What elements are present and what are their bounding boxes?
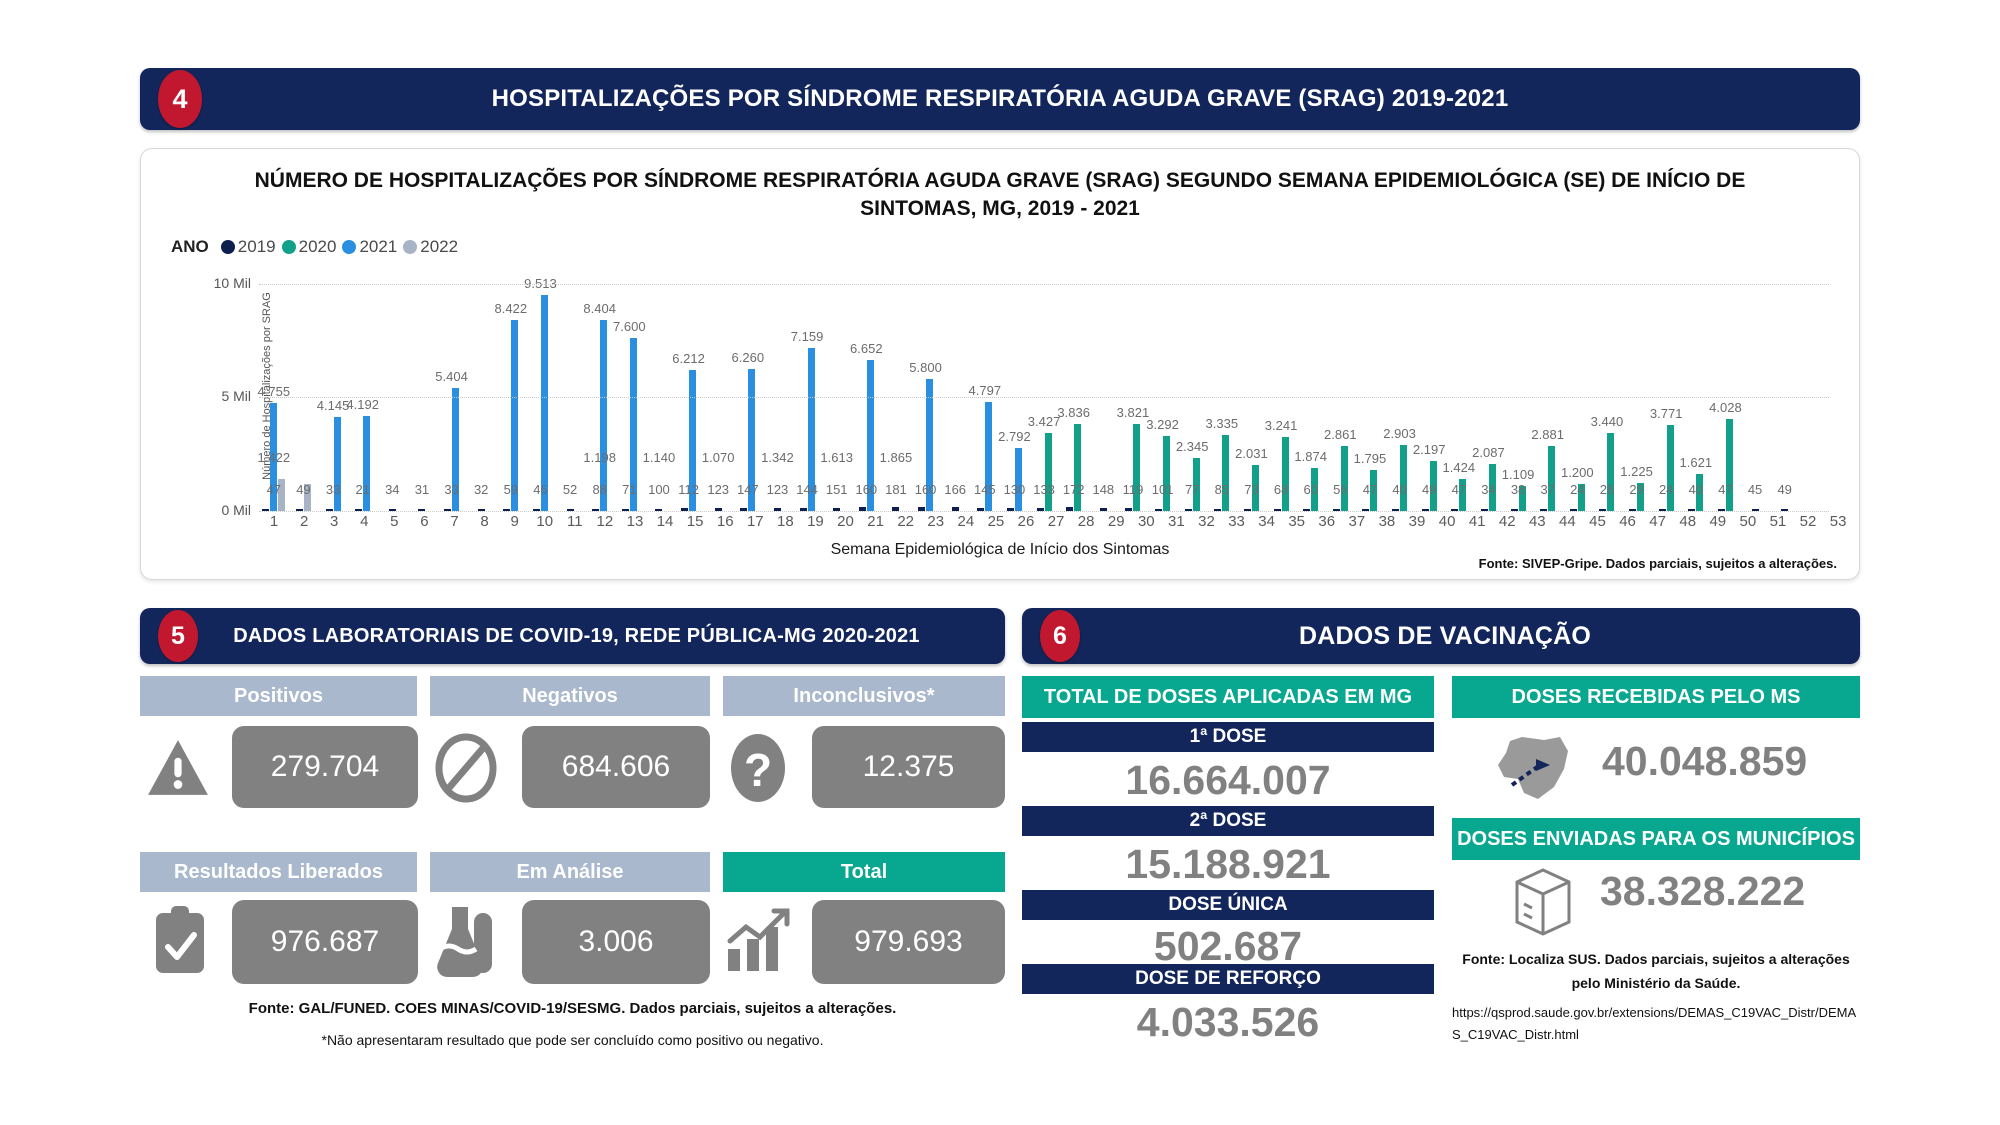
bar-value-label-2019: 34 (1481, 482, 1495, 497)
bar-group[interactable]: 2.792130 (1000, 261, 1030, 511)
bar-group[interactable]: 3.44028 (1592, 261, 1622, 511)
bar-group[interactable]: 2.19749 (1414, 261, 1444, 511)
bar-value-label-2019: 59 (504, 482, 518, 497)
dose-2-value: 15.188.921 (1022, 840, 1434, 888)
section-4-header: 4 HOSPITALIZAÇÕES POR SÍNDROME RESPIRATÓ… (140, 68, 1860, 130)
section-5-title: DADOS LABORATORIAIS DE COVID-19, REDE PÚ… (198, 625, 1005, 648)
lab-label-em-analise: Em Análise (430, 852, 710, 892)
bar-value-label-2019: 145 (974, 482, 996, 497)
bar-group[interactable]: 3.427133 (1029, 261, 1059, 511)
bar-value-label: 1.865 (880, 450, 913, 465)
doses-sent-value: 38.328.222 (1600, 868, 1805, 915)
package-box-icon (1506, 862, 1580, 942)
bar-group[interactable] (1800, 261, 1830, 511)
x-tick-label: 9 (500, 513, 530, 530)
bar-group[interactable]: 1.87460 (1296, 261, 1326, 511)
bar-value-label-2019: 40 (1392, 482, 1406, 497)
x-tick-label: 34 (1252, 513, 1282, 530)
bar-value-label-2019: 45 (1748, 482, 1762, 497)
bar-value-label-2019: 100 (648, 482, 670, 497)
bar-value-label: 3.836 (1057, 405, 1090, 420)
bar-group[interactable]: 32 (466, 261, 496, 511)
test-tube-icon (428, 900, 504, 982)
bar-value-label-2019: 31 (415, 482, 429, 497)
bar-value-label-2019: 68 (1274, 482, 1288, 497)
x-tick-label: 42 (1492, 513, 1522, 530)
bar-value-label-2019: 46 (533, 482, 547, 497)
bar-value-label-2019: 147 (737, 482, 759, 497)
bar-value-label-2019: 73 (1244, 482, 1258, 497)
section-6-title: DADOS DE VACINAÇÃO (1080, 622, 1860, 651)
x-tick-label: 15 (680, 513, 710, 530)
bar-value-label-2019: 24 (1659, 482, 1673, 497)
dose-reforco-label: DOSE DE REFORÇO (1022, 964, 1434, 994)
svg-text:?: ? (744, 744, 772, 796)
bar-group[interactable]: 9.51346 (526, 261, 556, 511)
lab-label-inconclusivos: Inconclusivos* (723, 676, 1005, 716)
bar-2021[interactable] (1015, 448, 1022, 511)
x-tick-label: 7 (439, 513, 469, 530)
x-tick-label: 20 (830, 513, 860, 530)
bar-group[interactable]: 1.79547 (1355, 261, 1385, 511)
x-tick-label: 51 (1763, 513, 1793, 530)
chart-legend: ANO 2019 2020 2021 2022 (171, 237, 458, 257)
bar-value-label-2019: 172 (1063, 482, 1085, 497)
legend-label-2021: 2021 (359, 237, 397, 257)
bar-value-label-2019: 24 (1570, 482, 1584, 497)
bar-value-label-2019: 47 (1718, 482, 1732, 497)
bar-value-label: 1.795 (1354, 451, 1387, 466)
bar-value-label: 2.345 (1176, 439, 1209, 454)
bar-value-label-2019: 160 (915, 482, 937, 497)
chart-title: NÚMERO DE HOSPITALIZAÇÕES POR SÍNDROME R… (201, 167, 1799, 223)
bar-group[interactable]: 4.797145 (970, 261, 1000, 511)
x-tick-label: 6 (409, 513, 439, 530)
bar-value-label: 5.404 (435, 369, 468, 384)
x-tick-label: 39 (1402, 513, 1432, 530)
bar-group[interactable]: 1.10938 (1503, 261, 1533, 511)
bar-value-label-2019: 37 (1540, 482, 1554, 497)
bar-value-label-2019: 181 (885, 482, 907, 497)
x-tick-label: 36 (1312, 513, 1342, 530)
bar-2021[interactable] (541, 295, 548, 511)
bar-value-label: 1.198 (583, 450, 616, 465)
x-tick-label: 37 (1342, 513, 1372, 530)
bar-value-label: 6.212 (672, 351, 705, 366)
x-tick-label: 14 (650, 513, 680, 530)
legend-item-2021[interactable]: 2021 (342, 237, 397, 257)
bar-group[interactable]: 2.08734 (1474, 261, 1504, 511)
lab-label-total: Total (723, 852, 1005, 892)
x-tick-label: 46 (1613, 513, 1643, 530)
x-tick-label: 2 (289, 513, 319, 530)
bar-value-label: 3.335 (1206, 416, 1239, 431)
vaccination-total-header: TOTAL DE DOSES APLICADAS EM MG (1022, 676, 1434, 718)
bar-value-label: 1.874 (1294, 449, 1327, 464)
x-tick-label: 47 (1643, 513, 1673, 530)
x-tick-label: 32 (1191, 513, 1221, 530)
x-tick-label: 49 (1703, 513, 1733, 530)
bar-group[interactable]: 49 (289, 261, 319, 511)
legend-title: ANO (171, 237, 209, 257)
x-tick-label: 12 (590, 513, 620, 530)
bar-group[interactable]: 1.613151 (822, 261, 852, 511)
bar-group[interactable]: 148 (1089, 261, 1119, 511)
bar-value-label: 1.342 (761, 450, 794, 465)
bar-2020[interactable] (1400, 445, 1407, 511)
bar-group[interactable]: 1.62140 (1681, 261, 1711, 511)
bar-2020[interactable] (1163, 436, 1170, 511)
dose-1-label: 1ª DOSE (1022, 722, 1434, 752)
bar-value-label-2019: 130 (1004, 482, 1026, 497)
x-tick-label: 29 (1101, 513, 1131, 530)
x-tick-label: 40 (1432, 513, 1462, 530)
lab-label-positivos: Positivos (140, 676, 417, 716)
x-tick-label: 28 (1071, 513, 1101, 530)
lab-value-em-analise: 3.006 (522, 900, 710, 984)
bar-group[interactable]: 2.03173 (1237, 261, 1267, 511)
bar-2020[interactable] (1548, 446, 1555, 511)
bar-value-label-2019: 71 (622, 482, 636, 497)
bar-2020[interactable] (1045, 433, 1052, 511)
x-tick-label: 13 (620, 513, 650, 530)
x-tick-label: 30 (1131, 513, 1161, 530)
x-tick-label: 43 (1522, 513, 1552, 530)
bar-value-label-2019: 29 (1629, 482, 1643, 497)
x-tick-label: 50 (1733, 513, 1763, 530)
legend-swatch-2020 (282, 240, 296, 254)
legend-swatch-2019 (221, 240, 235, 254)
bar-group[interactable]: 3.821119 (1118, 261, 1148, 511)
dose-1-value: 16.664.007 (1022, 756, 1434, 804)
x-tick-label: 10 (530, 513, 560, 530)
bar-value-label: 6.652 (850, 341, 883, 356)
bar-value-label-2019: 34 (385, 482, 399, 497)
bar-value-label: 1.200 (1561, 465, 1594, 480)
bar-group[interactable]: 2.86156 (1326, 261, 1356, 511)
x-tick-label: 17 (740, 513, 770, 530)
bar-group[interactable]: 49 (1770, 261, 1800, 511)
bar-value-label: 2.792 (998, 429, 1031, 444)
minas-gerais-map-icon (1490, 734, 1580, 804)
bar-value-label: 3.241 (1265, 418, 1298, 433)
bar-group[interactable]: 2.34577 (1177, 261, 1207, 511)
bar-value-label-2019: 123 (707, 482, 729, 497)
bar-value-label-2019: 21 (355, 482, 369, 497)
bar-value-label-2019: 32 (474, 482, 488, 497)
section-6-badge: 6 (1040, 610, 1080, 662)
bar-chart-icon (718, 900, 798, 982)
legend-label-2019: 2019 (238, 237, 276, 257)
bar-group[interactable]: 8.42259 (496, 261, 526, 511)
bar-value-label: 1.070 (702, 450, 735, 465)
legend-swatch-2021 (342, 240, 356, 254)
bar-value-label: 3.440 (1591, 414, 1624, 429)
prohibited-icon (430, 728, 502, 808)
bar-value-label: 6.260 (732, 350, 765, 365)
bar-value-label: 4.145 (317, 398, 350, 413)
lab-label-negativos: Negativos (430, 676, 710, 716)
bar-group[interactable]: 4.19221 (348, 261, 378, 511)
bar-value-label-2019: 77 (1185, 482, 1199, 497)
bar-value-label: 8.404 (583, 301, 616, 316)
bar-group[interactable]: 2.88137 (1533, 261, 1563, 511)
dose-reforco-value: 4.033.526 (1022, 998, 1434, 1046)
bar-value-label: 1.613 (820, 450, 853, 465)
dose-unica-label: DOSE ÚNICA (1022, 890, 1434, 920)
bar-group[interactable]: 8.4041.19888 (585, 261, 615, 511)
bar-value-label: 3.821 (1117, 405, 1150, 420)
lab-value-total: 979.693 (812, 900, 1005, 984)
bar-value-label-2019: 47 (1452, 482, 1466, 497)
lab-value-negativos: 684.606 (522, 726, 710, 808)
bar-group[interactable]: 7.159144 (792, 261, 822, 511)
legend-label-2022: 2022 (420, 237, 458, 257)
legend-label-2020: 2020 (299, 237, 337, 257)
bar-group[interactable]: 1.22529 (1622, 261, 1652, 511)
bar-value-label-2019: 85 (1215, 482, 1229, 497)
doses-sent-header: DOSES ENVIADAS PARA OS MUNICÍPIOS (1452, 818, 1860, 860)
x-tick-label: 48 (1673, 513, 1703, 530)
bar-group[interactable]: 3.292101 (1148, 261, 1178, 511)
vaccination-source-url[interactable]: https://qsprod.saude.gov.br/extensions/D… (1452, 1002, 1864, 1046)
x-tick-label: 19 (800, 513, 830, 530)
bar-group[interactable]: 4.14533 (318, 261, 348, 511)
bar-value-label-2019: 160 (855, 482, 877, 497)
x-tick-label: 8 (470, 513, 500, 530)
x-tick-label: 26 (1011, 513, 1041, 530)
section-5-header: 5 DADOS LABORATORIAIS DE COVID-19, REDE … (140, 608, 1005, 664)
section-6-header: 6 DADOS DE VACINAÇÃO (1022, 608, 1860, 664)
bar-value-label-2019: 47 (267, 482, 281, 497)
legend-item-2020[interactable]: 2020 (282, 237, 337, 257)
x-tick-label: 38 (1372, 513, 1402, 530)
x-tick-label: 35 (1282, 513, 1312, 530)
bar-value-label-2019: 49 (1422, 482, 1436, 497)
doses-received-value: 40.048.859 (1602, 738, 1807, 785)
x-tick-label: 33 (1222, 513, 1252, 530)
bar-value-label: 3.292 (1146, 417, 1179, 432)
x-tick-label: 22 (891, 513, 921, 530)
bar-group[interactable]: 4.7551.42247 (259, 261, 289, 511)
y-tick-label: 5 Mil (193, 388, 251, 404)
bar-2020[interactable] (1667, 425, 1674, 511)
bar-value-label-2019: 148 (1092, 482, 1114, 497)
bar-group[interactable]: 4.02847 (1711, 261, 1741, 511)
lab-value-inconclusivos: 12.375 (812, 726, 1005, 808)
bar-2020[interactable] (1607, 433, 1614, 511)
x-tick-label: 21 (861, 513, 891, 530)
srag-chart-card: NÚMERO DE HOSPITALIZAÇÕES POR SÍNDROME R… (140, 148, 1860, 580)
bar-value-label: 2.881 (1531, 427, 1564, 442)
section-4-title: HOSPITALIZAÇÕES POR SÍNDROME RESPIRATÓRI… (202, 85, 1860, 113)
bar-2020[interactable] (1133, 424, 1140, 511)
grid-line (259, 284, 1829, 285)
bar-value-label-2019: 101 (1152, 482, 1174, 497)
bar-group[interactable]: 31 (407, 261, 437, 511)
bar-value-label-2019: 60 (1303, 482, 1317, 497)
bar-value-label-2019: 112 (678, 482, 699, 497)
bar-value-label: 8.422 (495, 301, 528, 316)
bar-value-label-2019: 88 (592, 482, 606, 497)
bar-value-label: 3.771 (1650, 406, 1683, 421)
bar-value-label-2019: 33 (326, 482, 340, 497)
x-tick-label: 52 (1793, 513, 1823, 530)
bar-value-label-2019: 166 (944, 482, 966, 497)
bar-group[interactable]: 1.140100 (644, 261, 674, 511)
bar-value-label-2019: 47 (1363, 482, 1377, 497)
lab-value-positivos: 279.704 (232, 726, 418, 808)
warning-icon (142, 728, 214, 808)
bar-group[interactable]: 7.60071 (615, 261, 645, 511)
bar-group[interactable]: 6.652160 (852, 261, 882, 511)
x-tick-label: 25 (981, 513, 1011, 530)
bar-value-label: 2.031 (1235, 446, 1268, 461)
bar-value-label: 4.797 (969, 383, 1002, 398)
bar-value-label: 7.159 (791, 329, 824, 344)
bar-value-label: 1.621 (1680, 455, 1713, 470)
bar-value-label: 4.192 (346, 397, 379, 412)
x-tick-label: 31 (1161, 513, 1191, 530)
x-tick-label: 1 (259, 513, 289, 530)
lab-label-resultados-liberados: Resultados Liberados (140, 852, 417, 892)
x-tick-label: 27 (1041, 513, 1071, 530)
vaccination-source-line1: Fonte: Localiza SUS. Dados parciais, suj… (1462, 951, 1849, 967)
bar-value-label-2019: 133 (1033, 482, 1055, 497)
bar-value-label: 2.861 (1324, 427, 1357, 442)
x-tick-label: 11 (560, 513, 590, 530)
bar-value-label-2019: 40 (1689, 482, 1703, 497)
bar-value-label: 1.225 (1620, 464, 1653, 479)
dose-2-label: 2ª DOSE (1022, 806, 1434, 836)
bar-value-label: 2.197 (1413, 442, 1446, 457)
bar-value-label: 1.424 (1443, 460, 1476, 475)
dose-unica-value: 502.687 (1022, 922, 1434, 970)
bar-group[interactable]: 3.77124 (1651, 261, 1681, 511)
question-mark-icon: ? (722, 728, 794, 808)
section-4-badge: 4 (158, 70, 202, 128)
x-tick-label: 44 (1552, 513, 1582, 530)
x-tick-label: 45 (1582, 513, 1612, 530)
vaccination-source-note: Fonte: Localiza SUS. Dados parciais, suj… (1452, 948, 1860, 996)
x-tick-label: 3 (319, 513, 349, 530)
bar-value-label: 2.903 (1383, 426, 1416, 441)
grid-line (259, 397, 1829, 398)
bar-value-label: 7.600 (613, 319, 646, 334)
bar-group[interactable]: 3.33585 (1207, 261, 1237, 511)
x-tick-label: 23 (921, 513, 951, 530)
bar-value-label-2019: 28 (1600, 482, 1614, 497)
bar-group[interactable]: 3.836172 (1059, 261, 1089, 511)
bar-value-label-2019: 151 (826, 482, 848, 497)
x-tick-label: 4 (349, 513, 379, 530)
bar-value-label-2019: 144 (796, 482, 818, 497)
legend-swatch-2022 (403, 240, 417, 254)
bar-value-label: 2.087 (1472, 445, 1505, 460)
bar-2020[interactable] (1222, 435, 1229, 511)
y-tick-label: 0 Mil (193, 502, 251, 518)
section-5-badge: 5 (158, 610, 198, 662)
x-tick-label: 41 (1462, 513, 1492, 530)
x-tick-label: 53 (1823, 513, 1853, 530)
bar-group[interactable]: 3.24168 (1266, 261, 1296, 511)
y-tick-label: 10 Mil (193, 275, 251, 291)
bar-value-label-2019: 49 (296, 482, 310, 497)
bar-value-label-2019: 123 (767, 482, 789, 497)
x-tick-label: 5 (379, 513, 409, 530)
bar-group[interactable]: 2.90340 (1385, 261, 1415, 511)
x-tick-label: 16 (710, 513, 740, 530)
bar-value-label-2019: 33 (444, 482, 458, 497)
bar-group[interactable]: 52 (555, 261, 585, 511)
bar-group[interactable]: 1.342123 (763, 261, 793, 511)
bar-value-label: 4.028 (1709, 400, 1742, 415)
bar-value-label: 1.109 (1502, 467, 1535, 482)
legend-item-2019[interactable]: 2019 (221, 237, 276, 257)
x-tick-label: 18 (770, 513, 800, 530)
bar-group[interactable]: 5.800160 (911, 261, 941, 511)
clipboard-check-icon (146, 900, 214, 982)
vaccination-source-line2: pelo Ministério da Saúde. (1572, 975, 1741, 991)
bar-value-label: 1.140 (643, 450, 676, 465)
bar-group[interactable]: 45 (1740, 261, 1770, 511)
lab-source-note: Fonte: GAL/FUNED. COES MINAS/COVID-19/SE… (140, 1000, 1005, 1017)
chart-plot-area: Número de Hospitalizações por SRAG 0 Mil… (167, 261, 1835, 511)
x-tick-label: 24 (951, 513, 981, 530)
bar-group[interactable]: 6.212112 (674, 261, 704, 511)
bar-group[interactable]: 1.865181 (881, 261, 911, 511)
bar-2020[interactable] (1282, 437, 1289, 511)
lab-footnote: *Não apresentaram resultado que pode ser… (140, 1032, 1005, 1048)
bar-2020[interactable] (1726, 419, 1733, 511)
bar-group[interactable]: 5.40433 (437, 261, 467, 511)
grid-line (259, 511, 1829, 512)
bar-group[interactable]: 1.070123 (703, 261, 733, 511)
chart-source-note: Fonte: SIVEP-Gripe. Dados parciais, suje… (1479, 556, 1837, 571)
bar-2020[interactable] (1074, 424, 1081, 511)
bar-value-label-2019: 38 (1511, 482, 1525, 497)
bar-value-label-2019: 56 (1333, 482, 1347, 497)
legend-item-2022[interactable]: 2022 (403, 237, 458, 257)
bar-value-label: 3.427 (1028, 414, 1061, 429)
bar-value-label-2019: 49 (1777, 482, 1791, 497)
bar-group[interactable]: 166 (940, 261, 970, 511)
lab-value-resultados-liberados: 976.687 (232, 900, 418, 984)
bar-value-label-2019: 119 (1123, 482, 1144, 497)
dashboard-page: 4 HOSPITALIZAÇÕES POR SÍNDROME RESPIRATÓ… (0, 0, 2000, 1125)
bars-container: 4.7551.42247494.145334.1922134315.404333… (259, 261, 1829, 511)
bar-value-label-2019: 52 (563, 482, 577, 497)
bar-2020[interactable] (1341, 446, 1348, 511)
doses-received-header: DOSES RECEBIDAS PELO MS (1452, 676, 1860, 718)
bar-value-label: 5.800 (909, 360, 942, 375)
bar-group[interactable]: 1.20024 (1563, 261, 1593, 511)
bar-group[interactable]: 6.260147 (733, 261, 763, 511)
bar-group[interactable]: 1.42447 (1444, 261, 1474, 511)
bar-value-label: 1.422 (258, 450, 291, 465)
bar-group[interactable]: 34 (378, 261, 408, 511)
x-axis-ticks: 1234567891011121314151617181920212223242… (259, 513, 1853, 530)
